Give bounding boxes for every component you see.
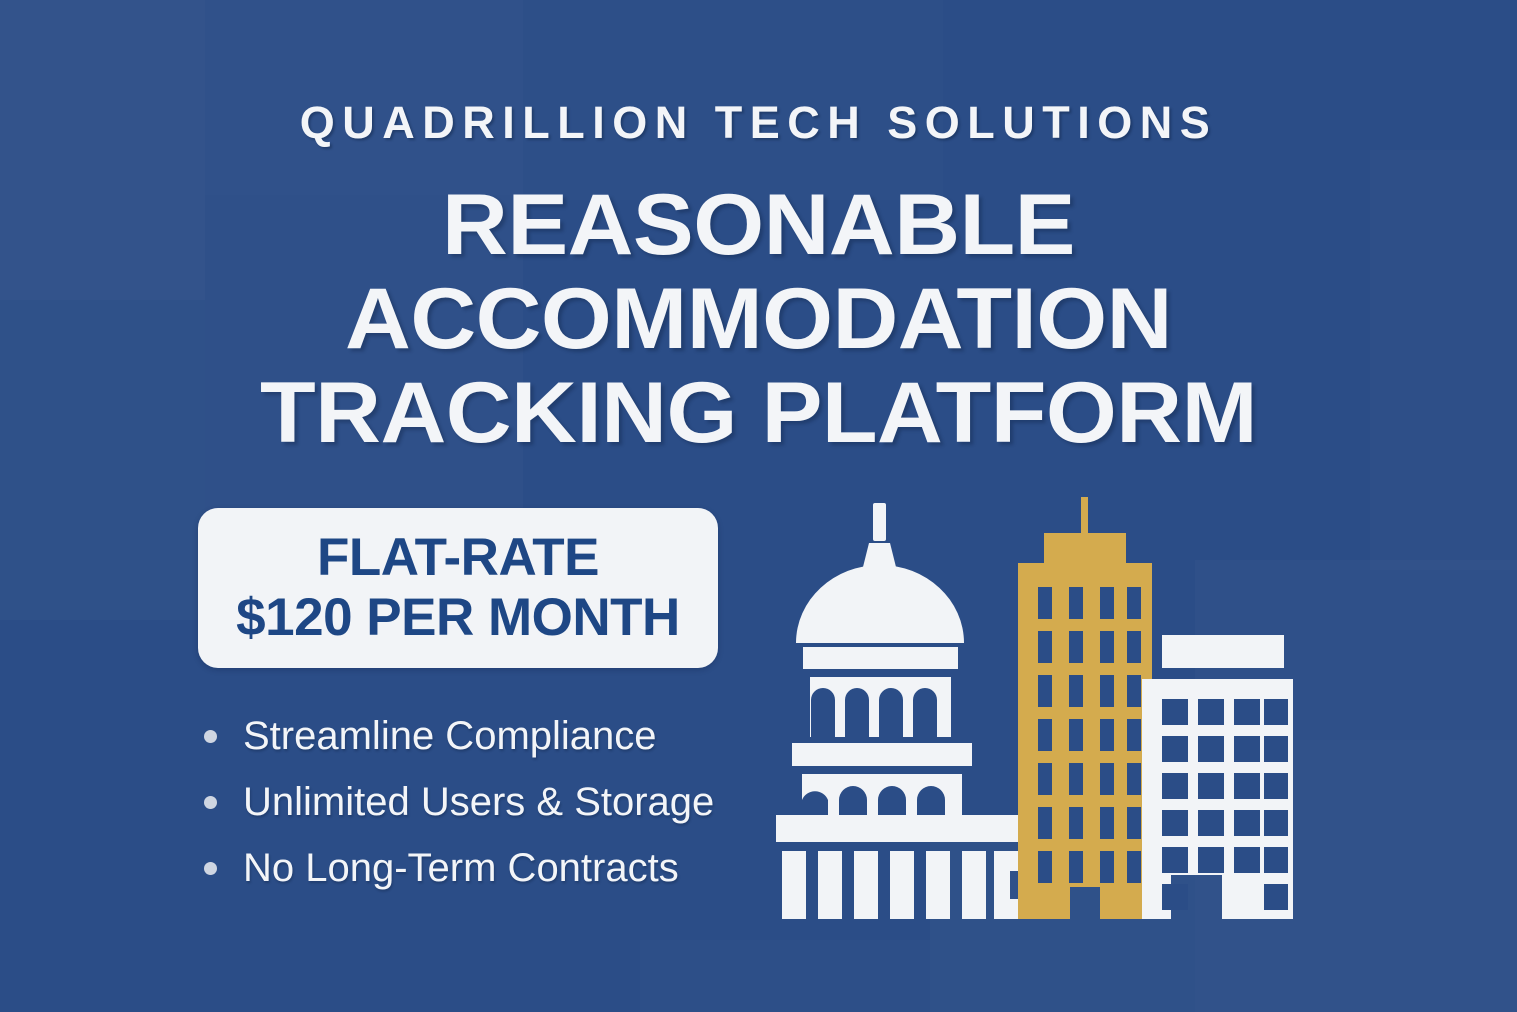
- headline-line-3: TRACKING PLATFORM: [0, 366, 1517, 460]
- gold-office-tower-icon: [1018, 497, 1152, 919]
- feature-label: No Long-Term Contracts: [243, 848, 679, 888]
- brand-eyebrow: QUADRILLION TECH SOLUTIONS: [0, 100, 1517, 145]
- feature-label: Streamline Compliance: [243, 716, 657, 756]
- pricing-badge-amount: $120 PER MONTH: [236, 591, 680, 645]
- promotional-poster: QUADRILLION TECH SOLUTIONS REASONABLE AC…: [0, 0, 1517, 1012]
- pricing-badge: FLAT-RATE $120 PER MONTH: [198, 508, 718, 668]
- feature-list: Streamline Compliance Unlimited Users & …: [204, 704, 824, 902]
- bullet-dot-icon: [204, 862, 217, 875]
- pricing-badge-rate-type: FLAT-RATE: [317, 531, 599, 585]
- city-skyline-illustration: [770, 495, 1330, 925]
- list-item: Streamline Compliance: [204, 704, 824, 768]
- white-office-building-icon: [1142, 635, 1293, 919]
- background-panel: [640, 940, 930, 1012]
- bullet-dot-icon: [204, 796, 217, 809]
- list-item: No Long-Term Contracts: [204, 836, 824, 900]
- bullet-dot-icon: [204, 730, 217, 743]
- list-item: Unlimited Users & Storage: [204, 770, 824, 834]
- page-title: REASONABLE ACCOMMODATION TRACKING PLATFO…: [0, 178, 1517, 460]
- headline-line-1: REASONABLE: [0, 178, 1517, 272]
- feature-label: Unlimited Users & Storage: [243, 782, 714, 822]
- capitol-dome-building-icon: [776, 503, 1046, 919]
- headline-line-2: ACCOMMODATION: [0, 272, 1517, 366]
